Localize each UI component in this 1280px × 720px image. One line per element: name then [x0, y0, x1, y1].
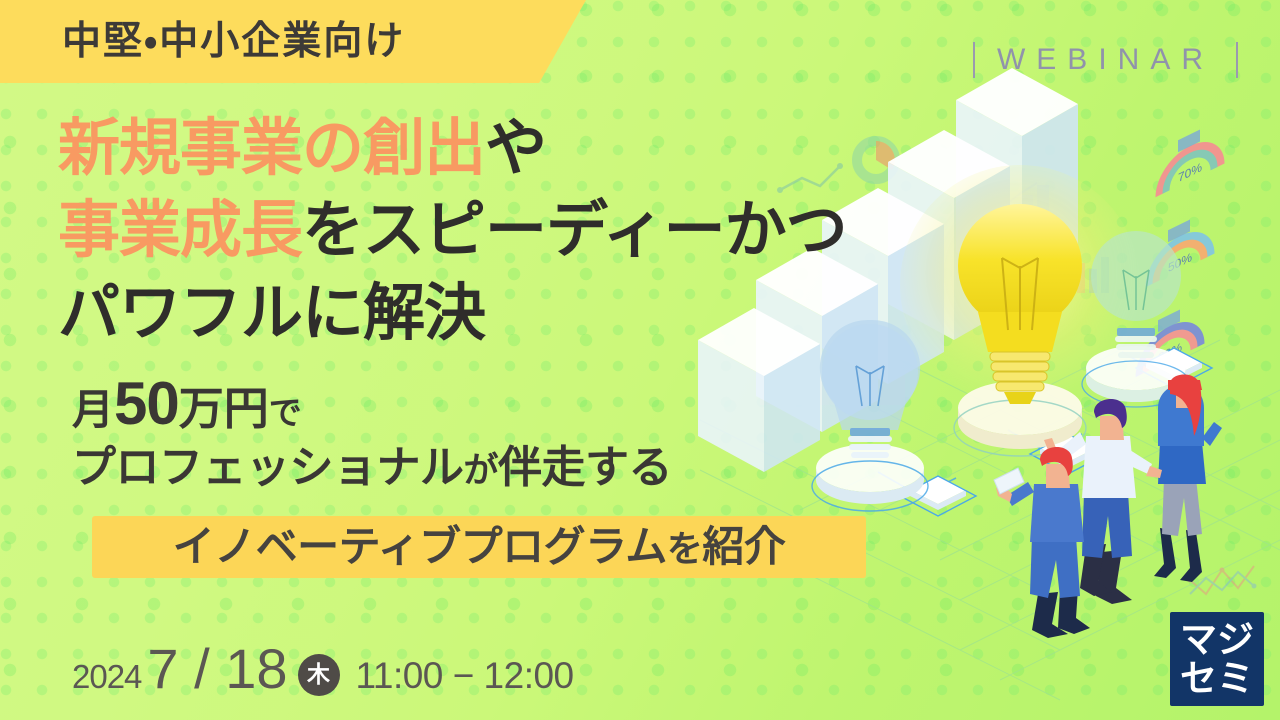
headline-line2-tail: をスピーディーかつ [302, 196, 847, 265]
gauge-70: 70% [1160, 120, 1220, 195]
headline-block: 新規事業の創出や 事業成長をスピーディーかつ パワフルに解決 [58, 108, 958, 355]
program-highlight-box: イノベーティブプログラムを紹介 [92, 516, 866, 578]
subheading-block: 月50万円で プロフェッショナルが伴走する [72, 374, 952, 490]
headline-line-2: 事業成長をスピーディーかつ [58, 190, 958, 272]
schedule-year: 2024 [72, 658, 141, 696]
program-highlight-text: イノベーティブプログラムを紹介 [173, 526, 786, 568]
ribbon-label: 中堅・中小企業向け [62, 22, 405, 61]
headline-line-1: 新規事業の創出や [58, 108, 958, 190]
webinar-label: WEBINAR [997, 45, 1214, 75]
man-with-tablet [994, 447, 1090, 638]
program-name: イノベーティブプログラム [173, 523, 667, 570]
program-action: 紹介 [702, 523, 785, 570]
schedule-time: 11:00 − 12:00 [356, 655, 574, 697]
headline-line1-emphasis: 新規事業の創出 [58, 114, 485, 183]
schedule-line: 2024 7 / 18 木 11:00 − 12:00 [72, 636, 574, 702]
headline-line2-emphasis: 事業成長 [58, 196, 302, 265]
logo-line-1: マジ [1180, 621, 1254, 659]
webinar-banner: 70% 50% 30% [0, 0, 1280, 720]
schedule-month-day: 7 / 18 [147, 636, 287, 701]
price-particle: で [269, 394, 302, 431]
logo-line-2: セミ [1180, 660, 1254, 698]
price-prefix: 月 [72, 386, 114, 433]
divider-bar-left [973, 42, 975, 78]
support-line: プロフェッショナルが伴走する [72, 446, 952, 490]
target-audience-ribbon: 中堅・中小企業向け [0, 0, 586, 83]
majiseminar-logo[interactable]: マジ セミ [1170, 612, 1264, 706]
program-particle: を [667, 528, 703, 569]
headline-line-3: パワフルに解決 [58, 273, 958, 355]
price-line: 月50万円で [72, 374, 952, 434]
divider-bar-right [1236, 42, 1238, 78]
headline-line1-tail: や [485, 114, 546, 183]
woman-standing [1154, 375, 1222, 583]
price-amount: 50 [114, 370, 179, 437]
support-line-particle: が [464, 451, 499, 490]
schedule-day-of-week-badge: 木 [298, 654, 340, 696]
price-unit: 万円 [179, 383, 269, 434]
support-line-tail: 伴走する [498, 443, 672, 492]
support-line-main: プロフェッショナル [72, 443, 464, 492]
webinar-badge: WEBINAR [973, 42, 1238, 78]
